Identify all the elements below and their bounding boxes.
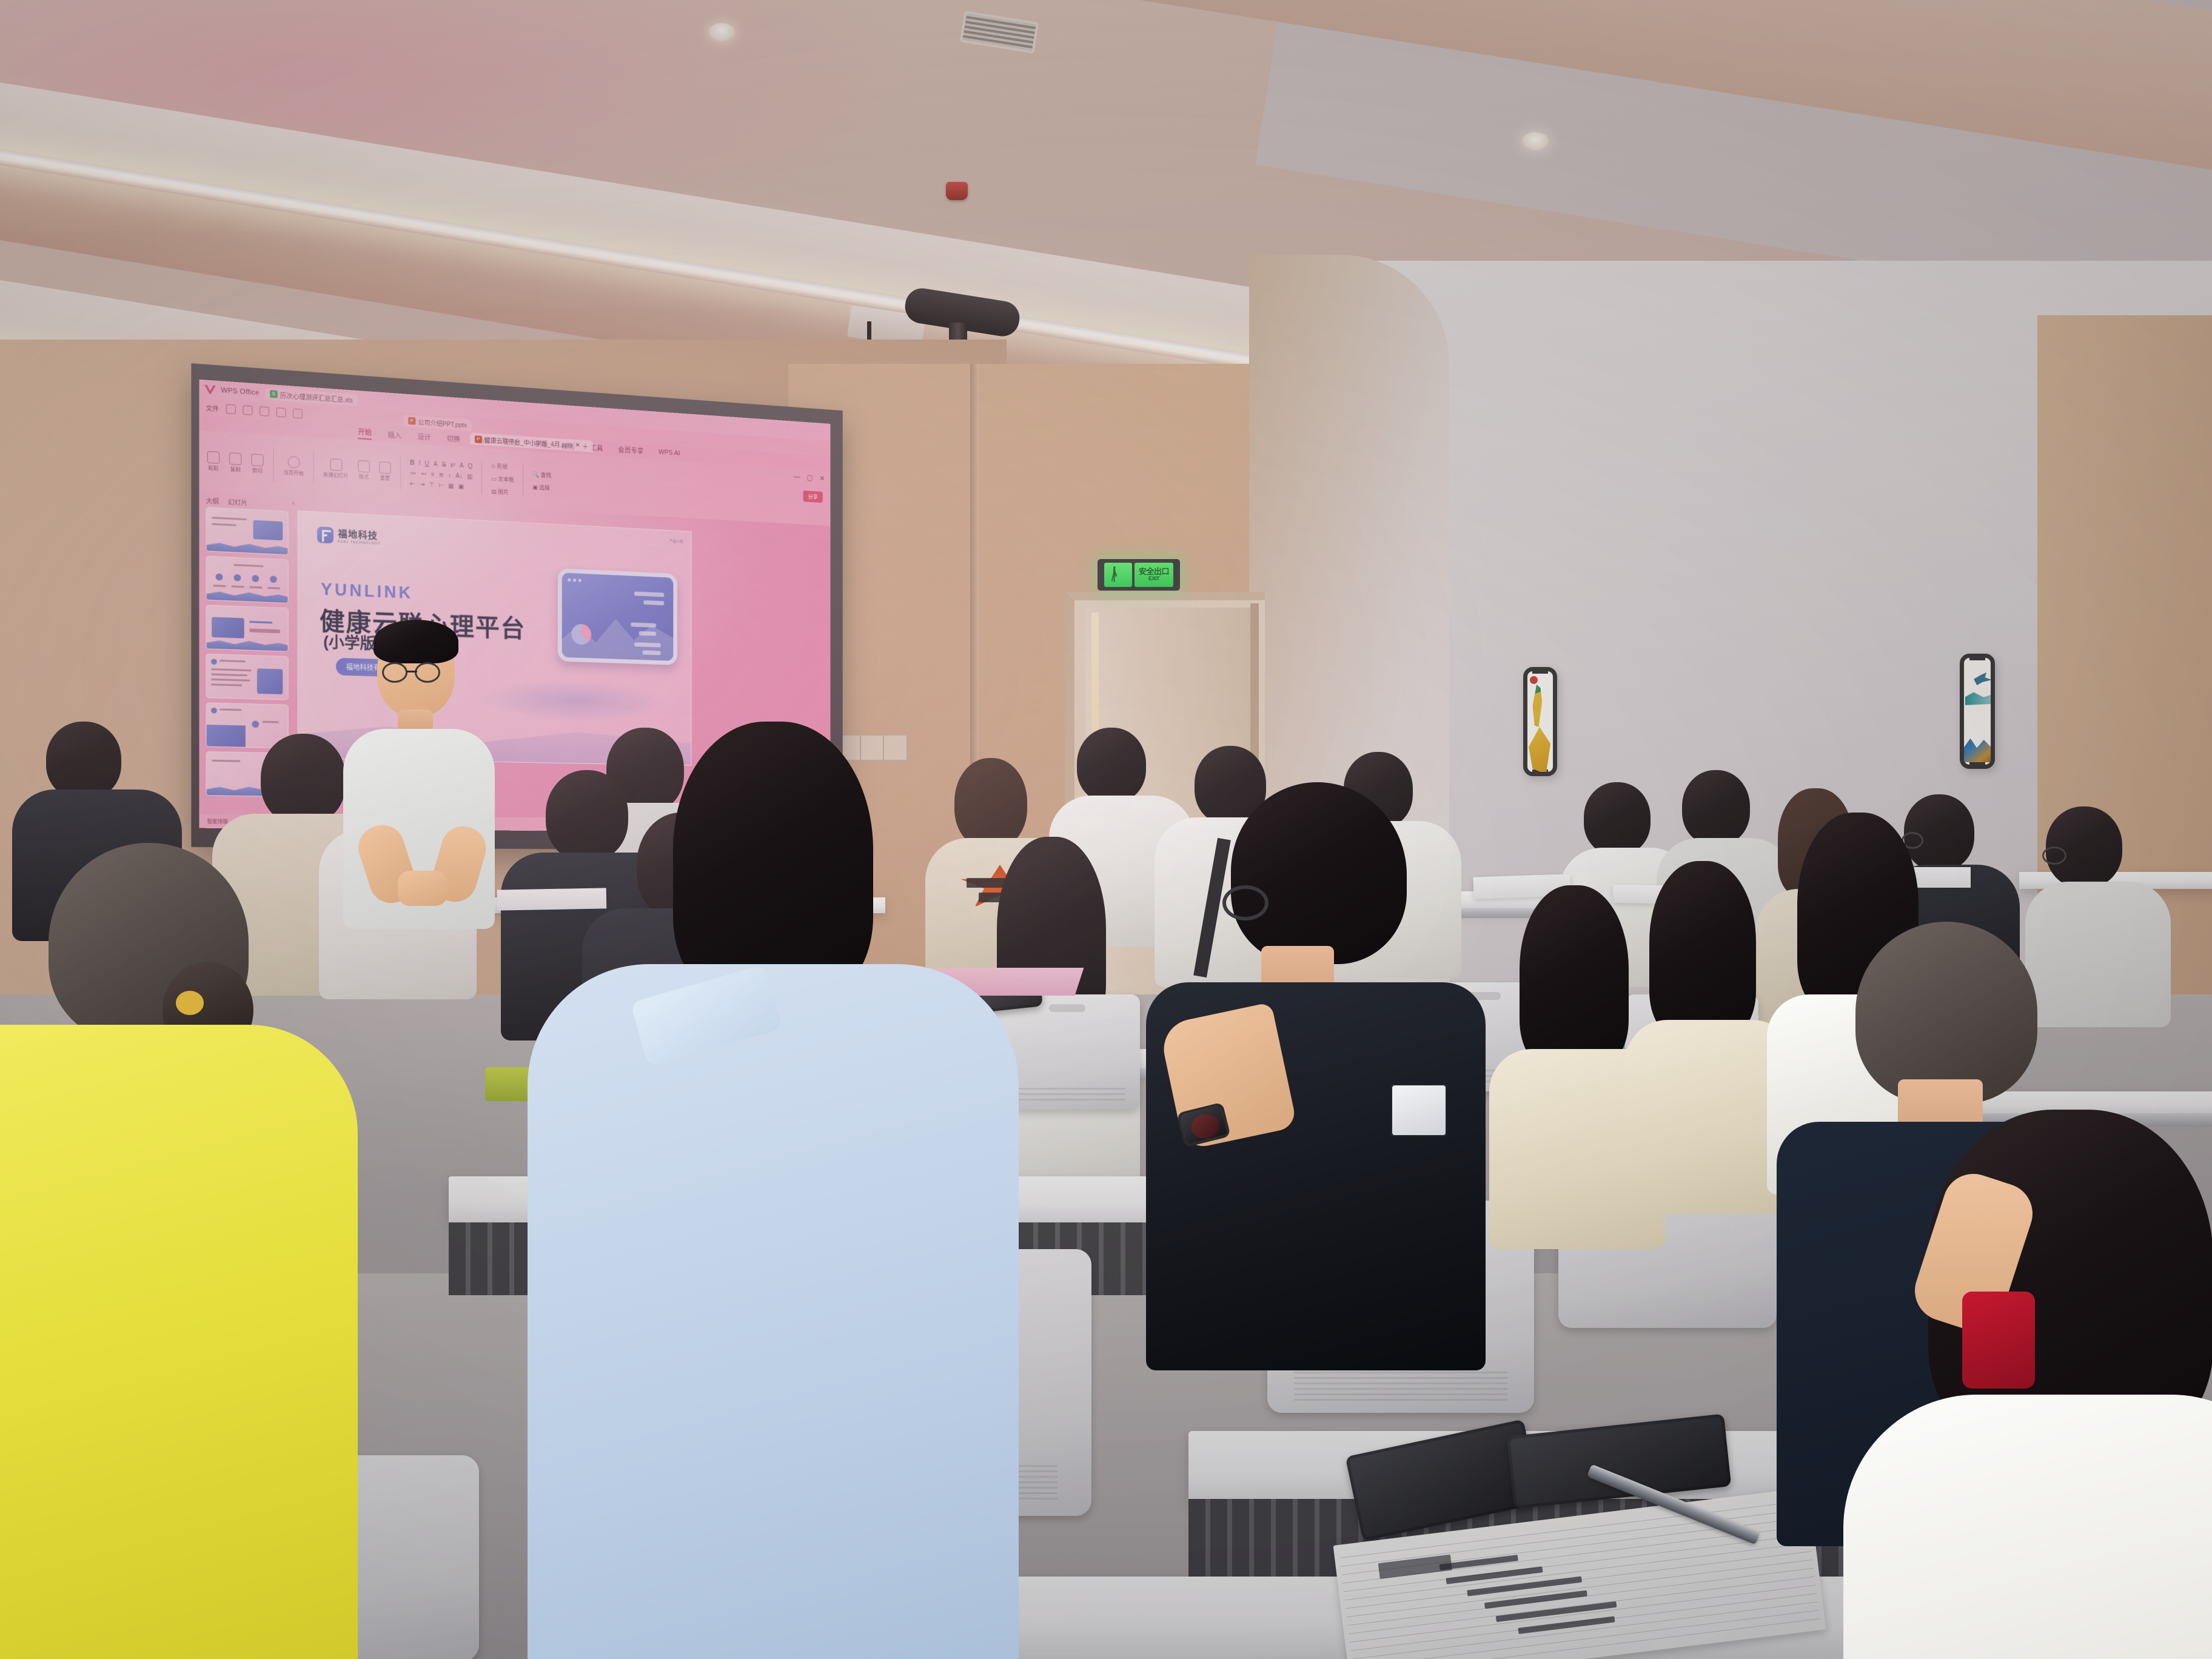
wall-outlet[interactable] <box>836 734 910 762</box>
dashboard-monitor-illustration <box>558 568 677 665</box>
close-icon[interactable]: ✕ <box>575 442 580 449</box>
classroom-photo-scene: 安全出口 EXIT WPS Office S 历次心理测评汇总汇总.xls 文件 <box>0 0 2212 1659</box>
ribbon-tab-wpsai[interactable]: WPS AI <box>659 449 680 457</box>
shirt-chest-patch <box>1391 1084 1447 1136</box>
recessed-downlight <box>708 23 735 41</box>
share-button[interactable]: 分享 <box>803 491 822 503</box>
maximize-icon[interactable]: ▢ <box>806 474 813 482</box>
ribbon-tab-member[interactable]: 会员专享 <box>618 445 643 456</box>
presenter-hands <box>398 871 447 906</box>
exit-sign-en: EXIT <box>1148 576 1159 581</box>
eyeglasses-icon <box>1222 885 1269 920</box>
slide-subtitle: (小学版) <box>323 630 381 654</box>
presentation-icon: P <box>475 435 482 443</box>
wall-art-panel-2 <box>1960 654 1995 769</box>
exit-sign-cn: 安全出口 <box>1139 568 1169 576</box>
running-man-icon <box>1104 563 1132 587</box>
exit-sign: 安全出口 EXIT <box>1098 559 1180 591</box>
eyeglasses-icon <box>382 662 407 683</box>
slide-thumbnail[interactable]: 3 <box>206 605 289 652</box>
hair-tie <box>176 991 204 1015</box>
wall-art-panel-1 <box>1523 667 1557 776</box>
minimize-icon[interactable]: — <box>794 472 800 481</box>
red-phone-case <box>1962 1292 2035 1389</box>
slide-thumbnail[interactable]: 5 <box>206 702 289 748</box>
close-icon[interactable]: ✕ <box>819 474 825 483</box>
slide-thumbnail[interactable]: 4 <box>206 654 289 700</box>
slide-corner-note: 产品介绍 <box>669 538 683 544</box>
eyeglasses-icon <box>2042 846 2066 865</box>
eyeglasses-icon <box>415 662 440 683</box>
smoke-detector-icon <box>946 182 968 200</box>
recessed-downlight <box>1522 132 1549 150</box>
exit-sign-text: 安全出口 EXIT <box>1134 563 1173 587</box>
handout-papers <box>497 888 607 910</box>
add-tab-icon[interactable]: ＋ <box>582 441 588 451</box>
status-left-label: 智能排版 <box>207 818 228 825</box>
